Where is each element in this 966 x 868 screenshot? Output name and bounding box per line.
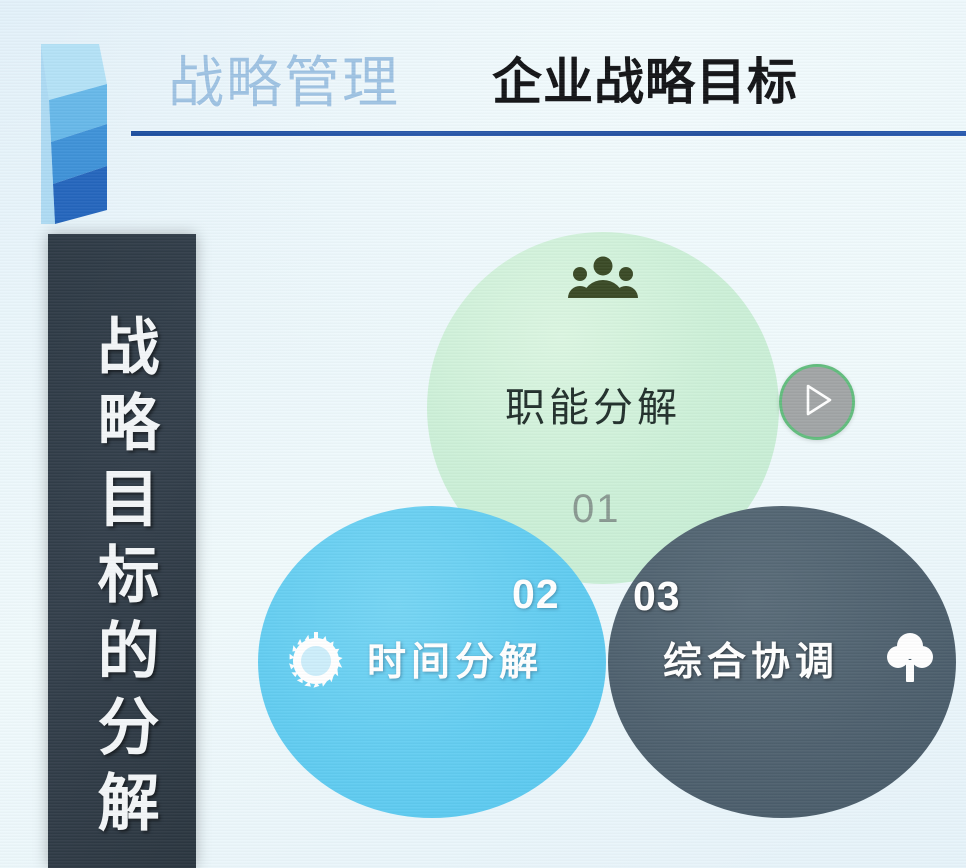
venn-label-01: 职能分解 xyxy=(505,375,681,433)
vertical-title-panel: 战略目标的分解 xyxy=(48,234,196,868)
people-group-icon xyxy=(566,256,640,305)
venn-label-02: 时间分解 xyxy=(367,631,543,687)
venn-number-02: 02 xyxy=(512,571,560,618)
play-triangle-icon xyxy=(800,382,834,423)
page-title-sub: 企业战略目标 xyxy=(492,42,798,114)
stacked-chevron-logo-icon xyxy=(37,38,111,224)
slide-header: 战略管理 企业战略目标 xyxy=(0,0,966,160)
venn-label-03: 综合协调 xyxy=(663,631,839,687)
tree-icon xyxy=(885,630,935,691)
vertical-title-text: 战略目标的分解 xyxy=(90,314,153,846)
header-divider xyxy=(131,131,966,136)
slide-canvas: 战略管理 企业战略目标 战略目标的分解 职能分解 01 xyxy=(0,0,966,868)
play-button[interactable] xyxy=(779,364,855,440)
page-title-main: 战略管理 xyxy=(168,38,400,119)
venn-number-01: 01 xyxy=(572,487,621,532)
gear-icon xyxy=(287,632,345,695)
venn-number-03: 03 xyxy=(633,573,681,620)
